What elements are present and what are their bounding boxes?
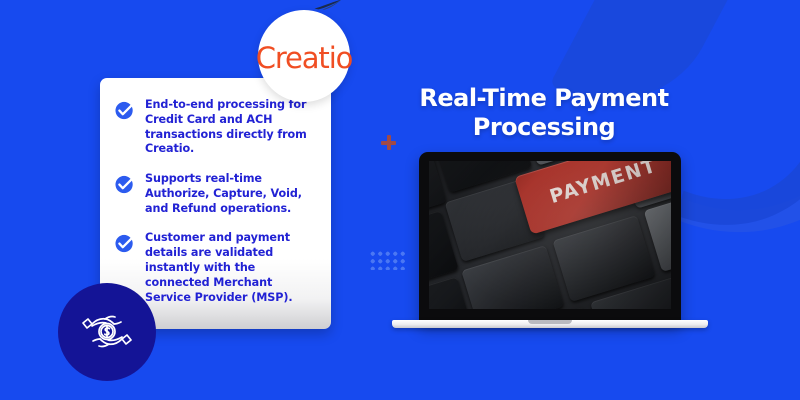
list-item-label: Supports real-time Authorize, Capture, V… [145, 172, 319, 216]
dot-grid-icon [369, 250, 407, 270]
creatio-swoosh-icon [314, 0, 342, 10]
list-item-label: Customer and payment details are validat… [145, 231, 319, 305]
list-item-label: End-to-end processing for Credit Card an… [145, 98, 319, 157]
list-item: Customer and payment details are validat… [114, 231, 319, 305]
hands-holding-money-badge [58, 283, 156, 381]
creatio-logo: Creatio [258, 10, 350, 102]
creatio-logo-text: Creatio [256, 44, 353, 73]
page-title: Real-Time Payment Processing [392, 84, 696, 143]
check-circle-icon [114, 173, 136, 195]
laptop-base [392, 320, 708, 328]
features-list: End-to-end processing for Credit Card an… [114, 98, 319, 305]
hands-holding-money-icon [78, 309, 136, 355]
laptop-screen: PAYMENT [429, 161, 671, 309]
list-item: End-to-end processing for Credit Card an… [114, 98, 319, 157]
laptop-illustration: PAYMENT [419, 152, 681, 324]
creatio-logo-badge: Creatio [258, 10, 350, 102]
list-item: Supports real-time Authorize, Capture, V… [114, 172, 319, 216]
check-circle-icon [114, 232, 136, 254]
check-circle-icon [114, 99, 136, 121]
laptop-notch [528, 320, 572, 324]
keyboard-photo: PAYMENT [429, 161, 671, 309]
promo-banner: Real-Time Payment Processing [0, 0, 800, 400]
